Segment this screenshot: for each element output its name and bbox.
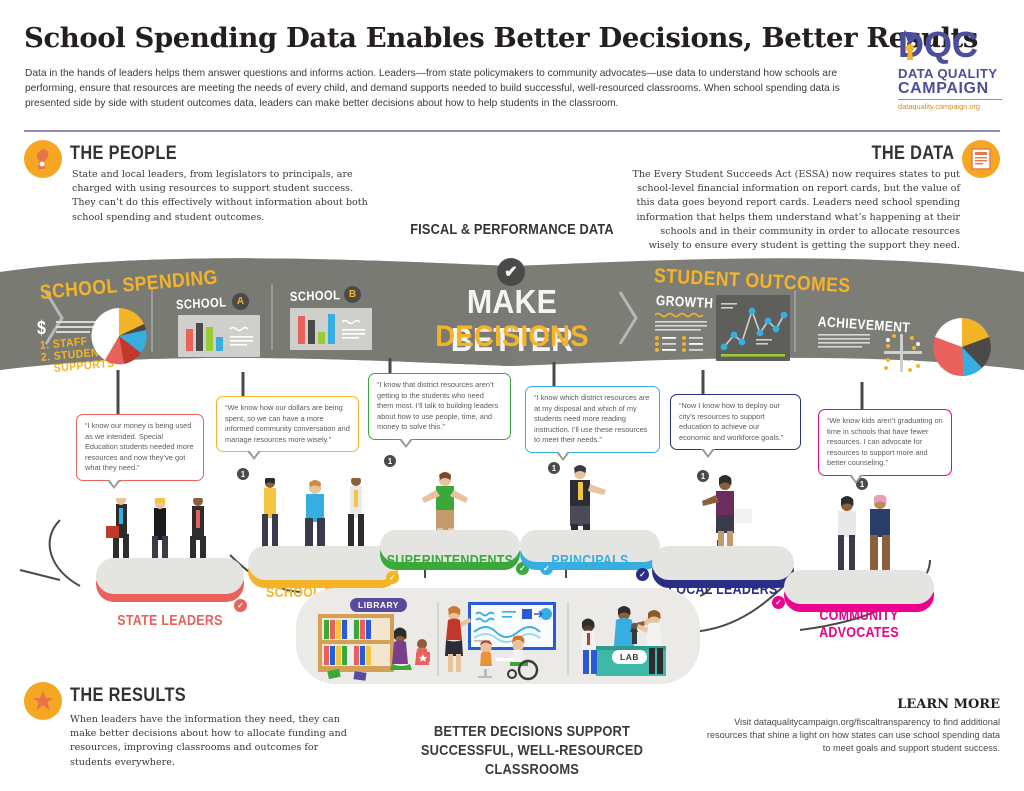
school-a-badge: A bbox=[232, 293, 249, 310]
page-title: School Spending Data Enables Better Deci… bbox=[24, 22, 884, 54]
data-body: The Every Student Succeeds Act (ESSA) no… bbox=[630, 168, 960, 253]
dqc-logo-mark: DQC bbox=[898, 24, 1004, 64]
star-icon bbox=[30, 688, 56, 714]
quote-bubble-local-leaders: “Now I know how to deploy our city’s res… bbox=[670, 394, 801, 450]
group-label-community-advocates: COMMUNITY ADVOCATES bbox=[793, 608, 925, 642]
status-dot-school-boards: ✓ bbox=[386, 571, 399, 584]
classroom-caption: BETTER DECISIONS SUPPORT SUCCESSFUL, WEL… bbox=[386, 722, 678, 779]
classroom-caption-line-1: BETTER DECISIONS SUPPORT bbox=[386, 722, 678, 741]
results-badge bbox=[24, 682, 62, 720]
status-dot-community-advocates: ✓ bbox=[772, 596, 785, 609]
results-title: THE RESULTS bbox=[70, 685, 186, 707]
logo-divider bbox=[898, 99, 1002, 100]
fiscal-performance-label: FISCAL & PERFORMANCE DATA bbox=[406, 222, 617, 238]
local-leaders-platform[interactable] bbox=[652, 546, 794, 580]
status-dot-principals: ✓ bbox=[540, 562, 553, 575]
people-body: State and local leaders, from legislator… bbox=[72, 168, 372, 225]
quote-bubble-principals: “I know which district resources are at … bbox=[525, 386, 660, 453]
logo-url[interactable]: dataquality.campaign.org bbox=[898, 102, 1004, 111]
results-body: When leaders have the information they n… bbox=[70, 713, 348, 770]
group-label-superintendents: SUPERINTENDENTS bbox=[386, 553, 513, 569]
node-number-3: 1 bbox=[384, 455, 396, 467]
community-advocates-figures bbox=[820, 495, 930, 577]
quote-bubble-state-leaders: “I know our money is being used as we in… bbox=[76, 414, 204, 481]
person-icon bbox=[30, 146, 56, 172]
infographic-page: School Spending Data Enables Better Deci… bbox=[0, 0, 1024, 791]
check-icon: ✔ bbox=[497, 258, 525, 286]
school-b-badge: B bbox=[344, 286, 361, 303]
quote-bubble-superintendents: “I know that district resources aren’t g… bbox=[368, 373, 511, 440]
dqc-logo: DQC DATA QUALITY CAMPAIGN dataquality.ca… bbox=[898, 24, 1004, 108]
quote-bubble-school-boards: “We know how our dollars are being spent… bbox=[216, 396, 359, 452]
people-title: THE PEOPLE bbox=[70, 143, 177, 165]
school-b-label: SCHOOL bbox=[290, 287, 341, 304]
report-card-icon bbox=[970, 147, 992, 171]
group-label-state-leaders: STATE LEADERS bbox=[105, 613, 236, 629]
school-boards-platform[interactable] bbox=[248, 546, 398, 580]
logo-line-1: DATA QUALITY bbox=[898, 66, 1004, 81]
learn-more-title: LEARN MORE bbox=[700, 697, 1000, 712]
data-badge bbox=[962, 140, 1000, 178]
learn-more-body: Visit dataqualitycampaign.org/fiscaltran… bbox=[700, 716, 1000, 755]
logo-line-2: CAMPAIGN bbox=[898, 80, 1004, 98]
quote-bubble-community-advocates: “We know kids aren’t graduating on time … bbox=[818, 409, 952, 476]
header-divider bbox=[24, 130, 1000, 132]
local-leaders-figure bbox=[692, 473, 772, 555]
school-a-label: SCHOOL bbox=[176, 294, 227, 312]
state-leaders-platform[interactable] bbox=[96, 558, 244, 594]
data-title: THE DATA bbox=[871, 143, 954, 165]
page-subtitle: Data in the hands of leaders helps them … bbox=[25, 66, 885, 112]
dollar-sign: $ bbox=[37, 318, 46, 340]
community-advocates-platform[interactable] bbox=[784, 570, 934, 604]
library-tag: LIBRARY bbox=[350, 598, 407, 612]
status-dot-state-leaders: ✓ bbox=[234, 599, 247, 612]
classroom-caption-line-2: SUCCESSFUL, WELL-RESOURCED CLASSROOMS bbox=[386, 741, 678, 779]
status-dot-local-leaders: ✓ bbox=[636, 568, 649, 581]
growth-label: GROWTH bbox=[656, 292, 714, 311]
people-badge bbox=[24, 140, 62, 178]
lab-tag: LAB bbox=[612, 650, 647, 664]
